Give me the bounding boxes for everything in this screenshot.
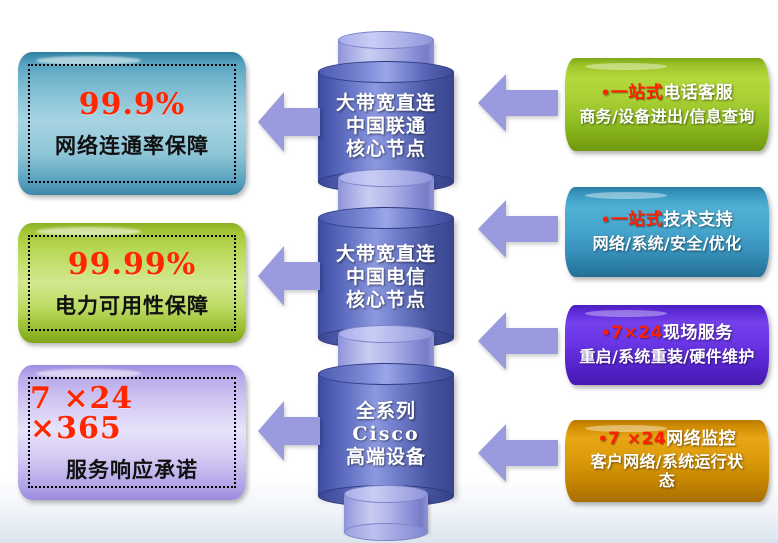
- metric-label: 电力可用性保障: [55, 296, 209, 317]
- arrow-right-4: [478, 420, 558, 486]
- cylinder-glare: [585, 310, 667, 317]
- title-rest: 电话客服: [663, 83, 733, 103]
- left-card-inner-border: 99.9% 网络连通率保障: [28, 64, 236, 183]
- right-card-title: •一站式技术支持: [565, 209, 769, 231]
- pipe-bottom-ellipse: [344, 523, 428, 541]
- arrow-right-1: [478, 70, 558, 136]
- right-card-network-monitor[interactable]: •7 ×24网络监控 客户网络/系统运行状态: [565, 420, 769, 502]
- bullet-icon: •: [598, 430, 608, 448]
- label-line-2: 中国电信: [318, 266, 454, 289]
- diagram-canvas: 99.9% 网络连通率保障 99.99% 电力可用性保障 7 ×24 ×365 …: [0, 0, 778, 543]
- pipe-top-ellipse: [338, 31, 434, 49]
- arrow-right-3: [478, 308, 558, 374]
- metric-label: 服务响应承诺: [66, 460, 198, 481]
- pipe-top-ellipse: [338, 169, 434, 187]
- left-card-response[interactable]: 7 ×24 ×365 服务响应承诺: [18, 365, 246, 500]
- bullet-icon: •: [601, 84, 611, 102]
- title-highlight: 7 ×24: [608, 429, 666, 449]
- right-card-text: •7 ×24网络监控 客户网络/系统运行状态: [565, 428, 769, 490]
- arrow-right-2: [478, 196, 558, 262]
- left-card-power[interactable]: 99.99% 电力可用性保障: [18, 223, 246, 343]
- title-rest: 技术支持: [663, 210, 733, 230]
- pipe-top-ellipse: [338, 325, 434, 343]
- arrow-left-2: [258, 240, 320, 312]
- right-card-title: •7×24现场服务: [565, 322, 769, 344]
- left-card-inner-border: 7 ×24 ×365 服务响应承诺: [28, 377, 236, 488]
- title-rest: 现场服务: [663, 323, 733, 343]
- label-line-3: 高端设备: [318, 447, 454, 470]
- center-node-label: 全系列 Cisco 高端设备: [318, 400, 454, 470]
- label-line-3: 核心节点: [318, 139, 454, 162]
- pipe-top-ellipse: [344, 485, 428, 503]
- right-card-phone-service[interactable]: •一站式电话客服 商务/设备进出/信息查询: [565, 58, 769, 151]
- right-card-title: •7 ×24网络监控: [565, 428, 769, 450]
- metric-value: 99.9%: [79, 90, 186, 120]
- right-card-text: •7×24现场服务 重启/系统重装/硬件维护: [565, 322, 769, 368]
- center-node-unicom[interactable]: 大带宽直连 中国联通 核心节点: [318, 72, 454, 182]
- drum-top-ellipse: [318, 61, 454, 83]
- label-line-1: 全系列: [318, 400, 454, 423]
- right-card-detail: 重启/系统重装/硬件维护: [565, 347, 769, 368]
- label-line-2: 中国联通: [318, 115, 454, 138]
- drum-top-ellipse: [318, 363, 454, 385]
- bullet-icon: •: [601, 211, 611, 229]
- metric-value: 99.99%: [68, 250, 196, 280]
- center-node-label: 大带宽直连 中国联通 核心节点: [318, 92, 454, 162]
- bullet-icon: •: [601, 324, 611, 342]
- right-card-text: •一站式电话客服 商务/设备进出/信息查询: [565, 82, 769, 128]
- center-node-telecom[interactable]: 大带宽直连 中国电信 核心节点: [318, 218, 454, 338]
- left-card-network[interactable]: 99.9% 网络连通率保障: [18, 52, 246, 195]
- cylinder-glare: [585, 63, 667, 70]
- metric-label: 网络连通率保障: [55, 136, 209, 157]
- right-card-detail: 客户网络/系统运行状态: [565, 454, 769, 491]
- center-pipe-bottom: [344, 494, 428, 532]
- right-card-tech-support[interactable]: •一站式技术支持 网络/系统/安全/优化: [565, 187, 769, 277]
- title-highlight: 一站式: [611, 83, 664, 103]
- left-card-inner-border: 99.99% 电力可用性保障: [28, 235, 236, 331]
- title-rest: 网络监控: [666, 429, 736, 449]
- label-line-2: Cisco: [318, 423, 454, 446]
- right-card-title: •一站式电话客服: [565, 82, 769, 104]
- right-card-detail: 商务/设备进出/信息查询: [565, 107, 769, 128]
- metric-value: 7 ×24 ×365: [30, 384, 234, 444]
- title-highlight: 7×24: [611, 323, 663, 343]
- right-card-detail: 网络/系统/安全/优化: [565, 234, 769, 255]
- label-line-3: 核心节点: [318, 290, 454, 313]
- label-line-1: 大带宽直连: [318, 92, 454, 115]
- center-node-cisco[interactable]: 全系列 Cisco 高端设备: [318, 374, 454, 496]
- arrow-left-1: [258, 86, 320, 158]
- center-node-label: 大带宽直连 中国电信 核心节点: [318, 243, 454, 313]
- title-highlight: 一站式: [611, 210, 664, 230]
- drum-top-ellipse: [318, 207, 454, 229]
- right-card-text: •一站式技术支持 网络/系统/安全/优化: [565, 209, 769, 255]
- arrow-left-3: [258, 395, 320, 467]
- right-card-onsite-service[interactable]: •7×24现场服务 重启/系统重装/硬件维护: [565, 305, 769, 385]
- cylinder-glare: [585, 192, 667, 199]
- label-line-1: 大带宽直连: [318, 243, 454, 266]
